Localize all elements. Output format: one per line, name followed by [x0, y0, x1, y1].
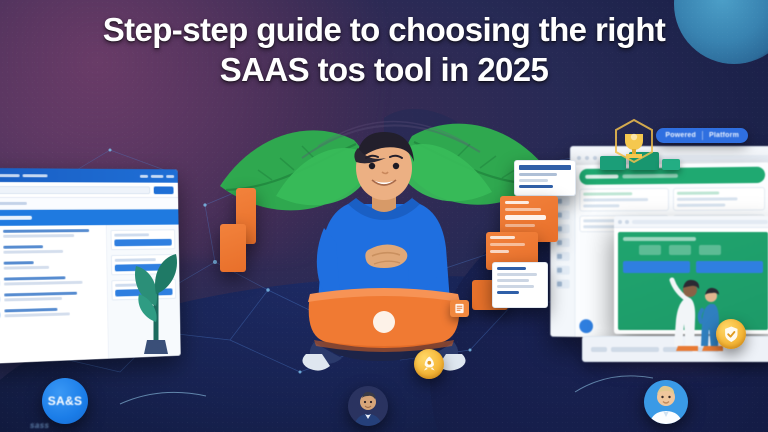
bell-icon[interactable]: [140, 174, 148, 177]
floating-window-card: [514, 160, 576, 196]
floating-action-button[interactable]: [579, 319, 593, 333]
document-icon: [454, 303, 465, 314]
metric-card[interactable]: [579, 188, 669, 212]
page-title: Step-step guide to choosing the right SA…: [0, 10, 768, 90]
left-dashboard-filter-row: [0, 198, 178, 210]
search-button[interactable]: [154, 186, 174, 194]
watermark-text: sass: [30, 421, 49, 430]
topbar-stat: [151, 174, 164, 177]
document-icon-tile: [450, 300, 469, 317]
avatar[interactable]: [644, 380, 688, 424]
pill-label-left: Powered: [665, 132, 696, 139]
green-window-titlebar: [614, 216, 768, 228]
floating-list-card: [492, 262, 548, 308]
person-with-laptop: [284, 118, 484, 378]
search-input[interactable]: [0, 185, 150, 193]
shield-check-icon: [722, 325, 741, 344]
metric-card[interactable]: [673, 187, 765, 211]
rocket-badge-icon: [414, 349, 444, 379]
saas-logo-text: SA&S: [48, 394, 83, 408]
topbar-menu-item[interactable]: [23, 174, 48, 177]
hero-illustration: [214, 104, 554, 384]
list-item[interactable]: [0, 307, 102, 321]
pill-label-right: Platform: [709, 132, 739, 139]
list-item[interactable]: [0, 229, 101, 241]
avatar-icon[interactable]: [166, 175, 174, 178]
left-dashboard-list: [0, 225, 109, 364]
list-item[interactable]: [0, 291, 102, 305]
list-item[interactable]: [0, 260, 102, 273]
left-dashboard-section-header: [0, 209, 179, 226]
list-item[interactable]: [0, 245, 101, 257]
hero-graphic: Step-step guide to choosing the right SA…: [0, 0, 768, 432]
headline-line-2: SAAS tos tool in 2025: [0, 50, 768, 90]
person-face-icon: [644, 380, 688, 424]
floating-card-orange: [220, 224, 246, 272]
left-dashboard-search-row: [0, 182, 178, 198]
status-badge[interactable]: Powered Platform: [656, 128, 748, 143]
topbar-menu-item[interactable]: [0, 174, 20, 177]
shield-badge-icon: [716, 319, 746, 349]
left-dashboard-topbar: [0, 168, 178, 183]
rocket-icon: [420, 355, 439, 374]
trophy-hex-badge-icon: [612, 118, 656, 166]
person-face-icon: [348, 386, 388, 426]
headline-line-1: Step-step guide to choosing the right: [103, 11, 666, 48]
saas-logo-badge[interactable]: SA&S: [42, 378, 88, 424]
list-item[interactable]: [0, 276, 102, 289]
filter-label: [0, 202, 27, 205]
pill-divider: [702, 131, 703, 140]
plant-decoration: [126, 236, 184, 354]
avatar[interactable]: [348, 386, 388, 426]
list-item-icon: [0, 310, 1, 321]
